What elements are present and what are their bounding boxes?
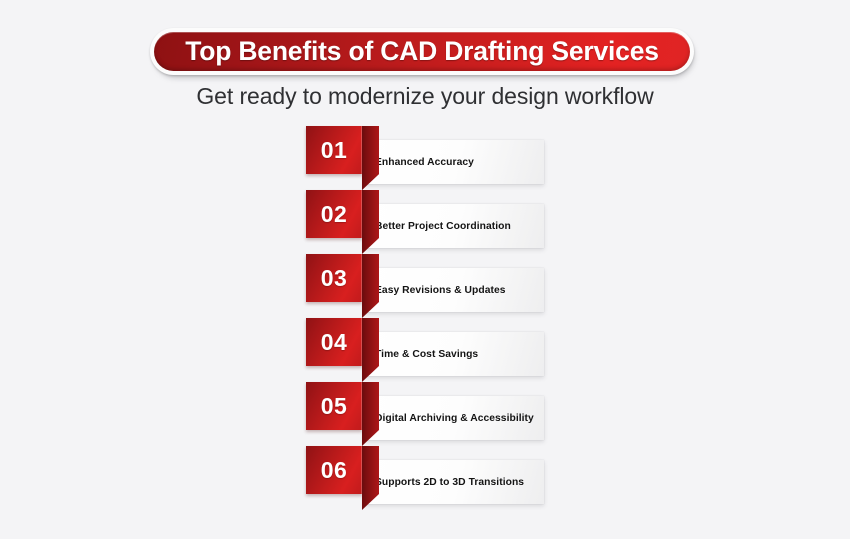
tab-seam (361, 126, 362, 174)
list-item[interactable]: Digital Archiving & Accessibility 05 (0, 382, 850, 446)
ribbon-fold-icon (362, 318, 379, 382)
tab-seam (361, 446, 362, 494)
benefit-panel: Better Project Coordination (365, 204, 544, 248)
benefit-number-tab: 02 (306, 190, 362, 238)
list-item[interactable]: Better Project Coordination 02 (0, 190, 850, 254)
list-item[interactable]: Supports 2D to 3D Transitions 06 (0, 446, 850, 510)
tab-seam (361, 382, 362, 430)
benefits-list: Enhanced Accuracy 01 Better Project Coor… (0, 0, 850, 539)
benefit-number: 02 (321, 201, 347, 228)
infographic-canvas: Top Benefits of CAD Drafting Services Ge… (0, 0, 850, 539)
benefit-label: Time & Cost Savings (375, 349, 478, 360)
benefit-number: 01 (321, 137, 347, 164)
benefit-label: Supports 2D to 3D Transitions (375, 477, 524, 488)
benefit-number: 05 (321, 393, 347, 420)
list-item[interactable]: Time & Cost Savings 04 (0, 318, 850, 382)
list-item[interactable]: Enhanced Accuracy 01 (0, 126, 850, 190)
benefit-panel: Time & Cost Savings (365, 332, 544, 376)
tab-seam (361, 318, 362, 366)
benefit-panel: Enhanced Accuracy (365, 140, 544, 184)
benefit-label: Better Project Coordination (375, 221, 511, 232)
tab-seam (361, 190, 362, 238)
ribbon-fold-icon (362, 254, 379, 318)
benefit-number-tab: 03 (306, 254, 362, 302)
ribbon-fold-icon (362, 446, 379, 510)
benefit-panel: Supports 2D to 3D Transitions (365, 460, 544, 504)
list-item[interactable]: Easy Revisions & Updates 03 (0, 254, 850, 318)
benefit-panel: Easy Revisions & Updates (365, 268, 544, 312)
ribbon-fold-icon (362, 126, 379, 190)
ribbon-fold-icon (362, 382, 379, 446)
ribbon-fold-icon (362, 190, 379, 254)
benefit-number: 06 (321, 457, 347, 484)
benefit-number-tab: 06 (306, 446, 362, 494)
benefit-number-tab: 05 (306, 382, 362, 430)
benefit-panel: Digital Archiving & Accessibility (365, 396, 544, 440)
benefit-label: Digital Archiving & Accessibility (375, 413, 534, 424)
tab-seam (361, 254, 362, 302)
benefit-number-tab: 01 (306, 126, 362, 174)
benefit-number: 04 (321, 329, 347, 356)
benefit-number-tab: 04 (306, 318, 362, 366)
benefit-label: Enhanced Accuracy (375, 157, 474, 168)
benefit-label: Easy Revisions & Updates (375, 285, 506, 296)
benefit-number: 03 (321, 265, 347, 292)
